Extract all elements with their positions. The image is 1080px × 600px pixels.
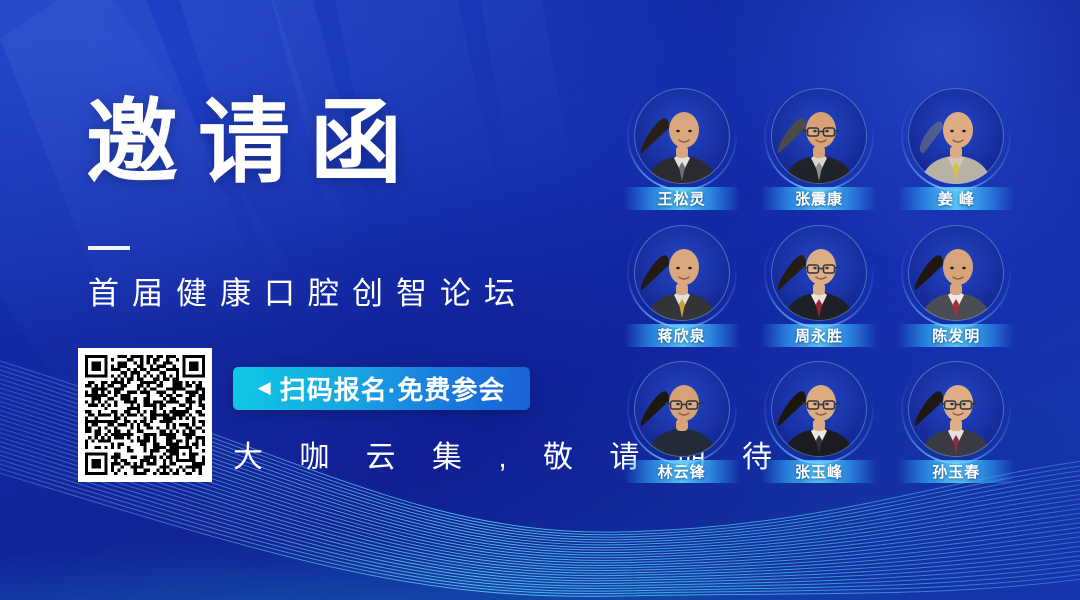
speaker-name: 周永胜: [795, 325, 843, 346]
speaker-avatar: [771, 361, 867, 457]
speaker-name: 王松灵: [658, 188, 706, 209]
qr-code[interactable]: [78, 348, 212, 482]
speaker-card[interactable]: 林云锋: [613, 361, 750, 498]
left-arrow-icon: ◀: [258, 379, 271, 396]
invitation-poster: 邀请函 首届健康口腔创智论坛 ◀ 扫码报名·免费参会 大 咖 云 集 , 敬 请…: [0, 0, 1080, 600]
speaker-avatar: [634, 225, 730, 321]
speaker-card[interactable]: 张玉峰: [750, 361, 887, 498]
speaker-avatar: [908, 361, 1004, 457]
qr-code-canvas: [85, 355, 205, 475]
speaker-card[interactable]: 王松灵: [613, 88, 750, 225]
speaker-card[interactable]: 孙玉春: [888, 361, 1025, 498]
speaker-card[interactable]: 蒋欣泉: [613, 225, 750, 362]
speaker-avatar: [771, 225, 867, 321]
page-title: 邀请函: [86, 97, 422, 189]
speaker-portrait-ring: [634, 225, 730, 321]
speaker-avatar: [634, 88, 730, 184]
speaker-avatar: [908, 88, 1004, 184]
speaker-portrait-ring: [908, 225, 1004, 321]
title-divider: [88, 246, 130, 250]
speaker-name: 姜 峰: [938, 188, 975, 209]
speaker-card[interactable]: 周永胜: [750, 225, 887, 362]
event-subtitle: 首届健康口腔创智论坛: [88, 268, 528, 313]
speaker-portrait-ring: [771, 361, 867, 457]
speaker-name: 张玉峰: [795, 461, 843, 482]
speaker-name: 张震康: [795, 188, 843, 209]
left-content: 邀请函 首届健康口腔创智论坛 ◀ 扫码报名·免费参会 大 咖 云 集 , 敬 请…: [0, 0, 600, 600]
speaker-card[interactable]: 姜 峰: [888, 88, 1025, 225]
speaker-card[interactable]: 张震康: [750, 88, 887, 225]
speaker-portrait-ring: [634, 88, 730, 184]
speaker-name: 林云锋: [658, 461, 706, 482]
register-button-label: 扫码报名·免费参会: [280, 370, 506, 407]
speaker-name: 蒋欣泉: [658, 325, 706, 346]
speaker-card[interactable]: 陈发明: [888, 225, 1025, 362]
speaker-avatar: [908, 225, 1004, 321]
register-button[interactable]: ◀ 扫码报名·免费参会: [233, 367, 530, 410]
speaker-portrait-ring: [771, 225, 867, 321]
speaker-portrait-ring: [908, 88, 1004, 184]
speaker-portrait-ring: [908, 361, 1004, 457]
speaker-avatar: [634, 361, 730, 457]
speaker-name: 陈发明: [932, 325, 980, 346]
speaker-grid: 王松灵张震康姜 峰蒋欣泉周永胜陈发明林云锋张玉峰孙玉春: [613, 88, 1025, 498]
speaker-portrait-ring: [771, 88, 867, 184]
speaker-portrait-ring: [634, 361, 730, 457]
speaker-avatar: [771, 88, 867, 184]
speaker-name: 孙玉春: [932, 461, 980, 482]
